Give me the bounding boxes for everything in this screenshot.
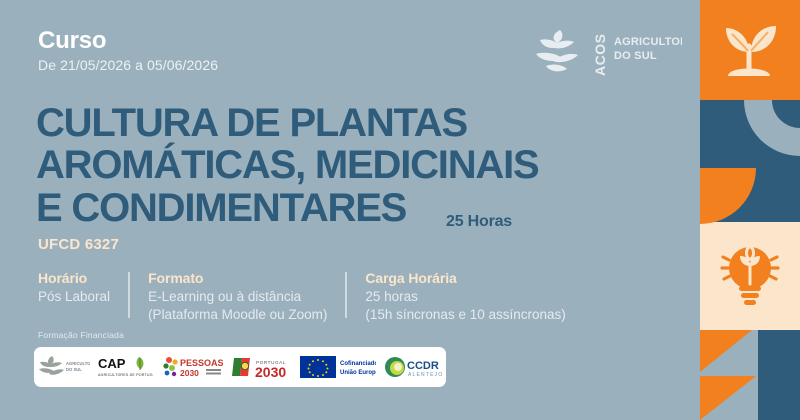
logo-ccdr-alentejo: CCDR ALENTEJO xyxy=(384,354,442,380)
info-line: Pós Laboral xyxy=(38,288,110,306)
svg-text:AGRICULTORES DE PORTUGAL: AGRICULTORES DE PORTUGAL xyxy=(98,373,153,377)
logo-pessoas-2030: PESSOAS 2030 xyxy=(161,354,223,380)
info-title: Horário xyxy=(38,270,110,286)
acos-brand-logo: ACOS AGRICULTORES DO SUL xyxy=(530,24,680,84)
info-column-formato: Formato E-Learning ou à distância (Plata… xyxy=(148,270,327,324)
svg-text:União Europeia: União Europeia xyxy=(340,370,376,376)
svg-text:ACOS: ACOS xyxy=(592,34,608,76)
svg-text:CAP: CAP xyxy=(98,356,126,371)
svg-text:Cofinanciado pela: Cofinanciado pela xyxy=(340,361,376,367)
svg-text:AGRICULTORES: AGRICULTORES xyxy=(66,361,90,366)
decorative-right-panel xyxy=(688,0,800,420)
logo-cap: CAP AGRICULTORES DE PORTUGAL xyxy=(97,354,153,380)
logo-portugal-2030: PORTUGAL 2030 xyxy=(231,354,293,380)
info-column-carga-horaria: Carga Horária 25 horas (15h síncronas e … xyxy=(365,270,565,324)
decor-block-blue-bottom xyxy=(758,330,800,420)
page-title: CULTURA DE PLANTAS AROMÁTICAS, MEDICINAI… xyxy=(36,102,596,229)
svg-text:AGRICULTORES: AGRICULTORES xyxy=(614,36,682,48)
poster-canvas: Curso De 21/05/2026 a 05/06/2026 ACOS AG… xyxy=(0,0,800,420)
title-line-2: AROMÁTICAS, MEDICINAIS xyxy=(36,144,596,186)
svg-text:DO SUL: DO SUL xyxy=(614,50,657,62)
info-columns: Horário Pós Laboral Formato E-Learning o… xyxy=(38,270,566,324)
info-separator-2 xyxy=(345,272,347,318)
info-line: (15h síncronas e 10 assíncronas) xyxy=(365,306,565,324)
info-column-horario: Horário Pós Laboral xyxy=(38,270,110,306)
acos-wordmark: ACOS AGRICULTORES DO SUL xyxy=(592,26,682,78)
title-line-1: CULTURA DE PLANTAS xyxy=(36,102,596,144)
info-title: Formato xyxy=(148,270,327,286)
svg-text:ALENTEJO: ALENTEJO xyxy=(408,372,442,378)
course-kicker: Curso xyxy=(38,28,218,54)
info-line: E-Learning ou à distância xyxy=(148,288,327,306)
svg-text:2030: 2030 xyxy=(180,368,199,378)
acos-wheat-icon xyxy=(530,28,584,74)
info-title: Carga Horária xyxy=(365,270,565,286)
header-block: Curso De 21/05/2026 a 05/06/2026 xyxy=(38,28,218,73)
svg-text:CCDR: CCDR xyxy=(407,360,439,372)
info-separator-1 xyxy=(128,272,130,318)
decor-triangle-orange-2 xyxy=(700,376,756,420)
ufcd-code: UFCD 6327 xyxy=(38,236,119,253)
sprout-icon xyxy=(718,18,782,82)
svg-text:DO SUL: DO SUL xyxy=(66,367,82,372)
svg-text:PESSOAS: PESSOAS xyxy=(180,358,223,368)
decor-left-gutter xyxy=(688,0,700,420)
title-line-3: E CONDIMENTARES xyxy=(36,187,596,229)
logo-acos: AGRICULTORES DO SUL xyxy=(38,354,90,380)
hours-badge: 25 Horas xyxy=(446,213,512,231)
lightbulb-plant-icon xyxy=(718,240,782,310)
course-dates: De 21/05/2026 a 05/06/2026 xyxy=(38,57,218,73)
logo-eu-cofinanced: Cofinanciado pela União Europeia xyxy=(300,354,376,380)
funding-logo-bar: AGRICULTORES DO SUL CAP AGRICULTORES DE … xyxy=(34,347,446,387)
financed-label: Formação Financiada xyxy=(38,330,124,340)
info-line: 25 horas xyxy=(365,288,565,306)
info-line: (Plataforma Moodle ou Zoom) xyxy=(148,306,327,324)
decor-triangle-orange-1 xyxy=(700,330,752,372)
svg-text:2030: 2030 xyxy=(255,364,286,379)
